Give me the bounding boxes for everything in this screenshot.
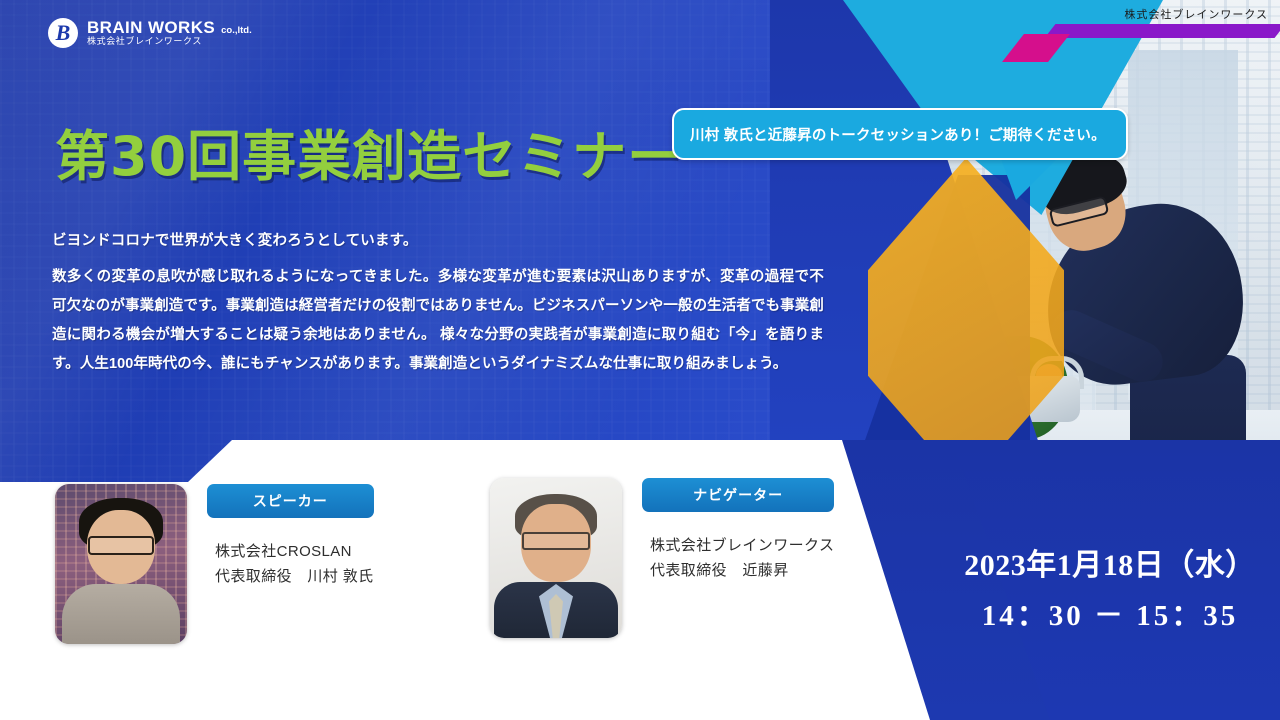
navigator-role-name: 代表取締役 近藤昇 bbox=[650, 559, 834, 584]
logo-jp-name: 株式会社ブレインワークス bbox=[87, 37, 252, 46]
schedule-text: 2023年1月18日（水） 14：30 － 15：35 bbox=[940, 540, 1280, 634]
body-paragraph: 数多くの変革の息吹が感じ取れるようになってきました。多様な変革が進む要素は沢山あ… bbox=[52, 263, 824, 379]
lead-paragraph: ビヨンドコロナで世界が大きく変わろうとしています。 bbox=[52, 229, 418, 250]
speech-bubble-tail bbox=[1000, 156, 1060, 200]
speaker-badge-label: スピーカー bbox=[253, 491, 328, 511]
navigator-meta: 株式会社ブレインワークス 代表取締役 近藤昇 bbox=[650, 534, 834, 584]
schedule-date: 2023年1月18日（水） bbox=[940, 540, 1280, 584]
navigator-company: 株式会社ブレインワークス bbox=[650, 534, 834, 559]
seminar-poster: $ B BRAIN WORKS co.,ltd. bbox=[0, 0, 1280, 720]
speaker-avatar bbox=[55, 484, 187, 644]
purple-accent-bar bbox=[1045, 24, 1280, 38]
speech-bubble-text: 川村 敦氏と近藤昇のトークセッションあり！ご期待ください。 bbox=[690, 124, 1106, 145]
speech-bubble: 川村 敦氏と近藤昇のトークセッションあり！ご期待ください。 bbox=[672, 108, 1128, 160]
speaker-badge: スピーカー bbox=[207, 484, 374, 518]
speaker-meta: 株式会社CROSLAN 代表取締役 川村 敦氏 bbox=[215, 540, 374, 590]
logo-text: BRAIN WORKS co.,ltd. 株式会社ブレインワークス bbox=[87, 19, 252, 46]
navigator-block: ナビゲーター 株式会社ブレインワークス 代表取締役 近藤昇 bbox=[490, 478, 834, 638]
logo-en-line: BRAIN WORKS co.,ltd. bbox=[87, 19, 252, 37]
speaker-company: 株式会社CROSLAN bbox=[215, 540, 374, 565]
avatar-body bbox=[62, 584, 180, 644]
navigator-badge-label: ナビゲーター bbox=[693, 485, 783, 505]
navigator-info: ナビゲーター 株式会社ブレインワークス 代表取締役 近藤昇 bbox=[616, 478, 834, 584]
logo-en-name: BRAIN WORKS bbox=[87, 19, 215, 37]
brainworks-logo: B BRAIN WORKS co.,ltd. 株式会社ブレインワークス bbox=[48, 18, 252, 48]
avatar-glasses-icon bbox=[522, 532, 590, 550]
avatar-glasses-icon bbox=[88, 536, 154, 555]
top-right-company-name: 株式会社ブレインワークス bbox=[1124, 6, 1268, 22]
speaker-block: スピーカー 株式会社CROSLAN 代表取締役 川村 敦氏 bbox=[55, 484, 374, 644]
navigator-badge: ナビゲーター bbox=[642, 478, 834, 512]
seminar-title: 第30回事業創造セミナー bbox=[55, 112, 682, 191]
navigator-avatar bbox=[490, 478, 622, 638]
logo-b-mark-icon: B bbox=[48, 18, 78, 48]
logo-en-suffix: co.,ltd. bbox=[221, 26, 252, 36]
speaker-role-name: 代表取締役 川村 敦氏 bbox=[215, 565, 374, 590]
speaker-info: スピーカー 株式会社CROSLAN 代表取締役 川村 敦氏 bbox=[181, 484, 374, 590]
schedule-time: 14：30 － 15：35 bbox=[940, 592, 1280, 634]
